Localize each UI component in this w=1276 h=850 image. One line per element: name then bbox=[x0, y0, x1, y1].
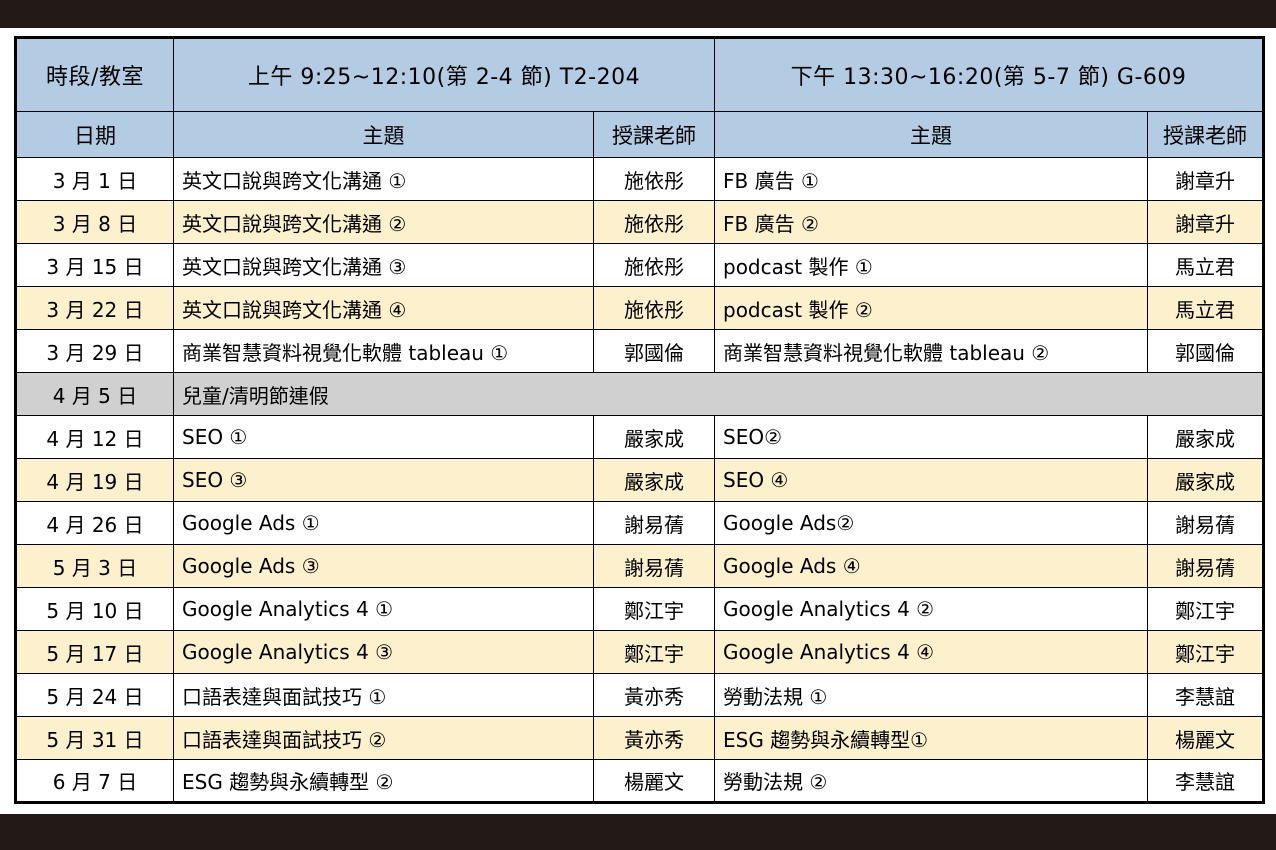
holiday-row: 4 月 5 日兒童/清明節連假 bbox=[16, 373, 1264, 416]
afternoon-subject-cell: Google Ads② bbox=[715, 502, 1148, 545]
column-header-afternoon-teacher: 授課老師 bbox=[1148, 112, 1264, 158]
header-afternoon-session: 下午 13:30~16:20(第 5-7 節) G-609 bbox=[715, 38, 1264, 112]
morning-subject-cell: 英文口說與跨文化溝通 ① bbox=[174, 158, 594, 201]
morning-subject-cell: SEO ③ bbox=[174, 459, 594, 502]
afternoon-subject-cell: SEO② bbox=[715, 416, 1148, 459]
table-row: 3 月 8 日英文口說與跨文化溝通 ②施依彤FB 廣告 ②謝章升 bbox=[16, 201, 1264, 244]
date-cell: 3 月 29 日 bbox=[16, 330, 174, 373]
column-header-morning-subject: 主題 bbox=[174, 112, 594, 158]
afternoon-subject-cell: 勞動法規 ② bbox=[715, 760, 1148, 803]
column-header-row: 日期 主題 授課老師 主題 授課老師 bbox=[16, 112, 1264, 158]
afternoon-teacher-cell: 李慧誼 bbox=[1148, 760, 1264, 803]
morning-teacher-cell: 施依彤 bbox=[594, 158, 715, 201]
afternoon-teacher-cell: 李慧誼 bbox=[1148, 674, 1264, 717]
table-row: 4 月 26 日Google Ads ①謝易蒨Google Ads②謝易蒨 bbox=[16, 502, 1264, 545]
table-row: 5 月 24 日口語表達與面試技巧 ①黃亦秀勞動法規 ①李慧誼 bbox=[16, 674, 1264, 717]
table-row: 5 月 31 日口語表達與面試技巧 ②黃亦秀ESG 趨勢與永續轉型①楊麗文 bbox=[16, 717, 1264, 760]
column-header-date: 日期 bbox=[16, 112, 174, 158]
table-row: 3 月 22 日英文口說與跨文化溝通 ④施依彤podcast 製作 ②馬立君 bbox=[16, 287, 1264, 330]
date-cell: 3 月 22 日 bbox=[16, 287, 174, 330]
holiday-date-cell: 4 月 5 日 bbox=[16, 373, 174, 416]
afternoon-subject-cell: podcast 製作 ② bbox=[715, 287, 1148, 330]
table-row: 5 月 10 日Google Analytics 4 ①鄭江宇Google An… bbox=[16, 588, 1264, 631]
afternoon-teacher-cell: 郭國倫 bbox=[1148, 330, 1264, 373]
morning-teacher-cell: 施依彤 bbox=[594, 287, 715, 330]
morning-teacher-cell: 嚴家成 bbox=[594, 416, 715, 459]
table-row: 6 月 7 日ESG 趨勢與永續轉型 ②楊麗文勞動法規 ②李慧誼 bbox=[16, 760, 1264, 803]
table-row: 3 月 1 日英文口說與跨文化溝通 ①施依彤FB 廣告 ①謝章升 bbox=[16, 158, 1264, 201]
date-cell: 5 月 24 日 bbox=[16, 674, 174, 717]
afternoon-teacher-cell: 謝章升 bbox=[1148, 158, 1264, 201]
afternoon-teacher-cell: 嚴家成 bbox=[1148, 459, 1264, 502]
morning-subject-cell: Google Ads ③ bbox=[174, 545, 594, 588]
morning-teacher-cell: 施依彤 bbox=[594, 201, 715, 244]
morning-teacher-cell: 鄭江宇 bbox=[594, 588, 715, 631]
table-row: 3 月 15 日英文口說與跨文化溝通 ③施依彤podcast 製作 ①馬立君 bbox=[16, 244, 1264, 287]
morning-subject-cell: Google Analytics 4 ① bbox=[174, 588, 594, 631]
afternoon-teacher-cell: 馬立君 bbox=[1148, 287, 1264, 330]
date-cell: 4 月 26 日 bbox=[16, 502, 174, 545]
date-cell: 6 月 7 日 bbox=[16, 760, 174, 803]
header-corner-label: 時段/教室 bbox=[16, 38, 174, 112]
column-header-afternoon-subject: 主題 bbox=[715, 112, 1148, 158]
date-cell: 4 月 12 日 bbox=[16, 416, 174, 459]
session-header-row: 時段/教室 上午 9:25~12:10(第 2-4 節) T2-204 下午 1… bbox=[16, 38, 1264, 112]
table-row: 3 月 29 日商業智慧資料視覺化軟體 tableau ①郭國倫商業智慧資料視覺… bbox=[16, 330, 1264, 373]
afternoon-subject-cell: 商業智慧資料視覺化軟體 tableau ② bbox=[715, 330, 1148, 373]
morning-teacher-cell: 鄭江宇 bbox=[594, 631, 715, 674]
column-header-morning-teacher: 授課老師 bbox=[594, 112, 715, 158]
morning-subject-cell: ESG 趨勢與永續轉型 ② bbox=[174, 760, 594, 803]
afternoon-subject-cell: ESG 趨勢與永續轉型① bbox=[715, 717, 1148, 760]
afternoon-subject-cell: FB 廣告 ① bbox=[715, 158, 1148, 201]
morning-teacher-cell: 謝易蒨 bbox=[594, 502, 715, 545]
afternoon-teacher-cell: 鄭江宇 bbox=[1148, 588, 1264, 631]
table-row: 5 月 3 日Google Ads ③謝易蒨Google Ads ④謝易蒨 bbox=[16, 545, 1264, 588]
date-cell: 4 月 19 日 bbox=[16, 459, 174, 502]
afternoon-teacher-cell: 謝易蒨 bbox=[1148, 545, 1264, 588]
morning-subject-cell: 英文口說與跨文化溝通 ④ bbox=[174, 287, 594, 330]
afternoon-subject-cell: 勞動法規 ① bbox=[715, 674, 1148, 717]
afternoon-teacher-cell: 謝章升 bbox=[1148, 201, 1264, 244]
morning-subject-cell: Google Analytics 4 ③ bbox=[174, 631, 594, 674]
table-row: 4 月 12 日SEO ①嚴家成SEO②嚴家成 bbox=[16, 416, 1264, 459]
page-sheet: 時段/教室 上午 9:25~12:10(第 2-4 節) T2-204 下午 1… bbox=[0, 28, 1276, 814]
morning-subject-cell: SEO ① bbox=[174, 416, 594, 459]
morning-teacher-cell: 郭國倫 bbox=[594, 330, 715, 373]
afternoon-subject-cell: SEO ④ bbox=[715, 459, 1148, 502]
afternoon-teacher-cell: 鄭江宇 bbox=[1148, 631, 1264, 674]
morning-teacher-cell: 黃亦秀 bbox=[594, 717, 715, 760]
morning-subject-cell: 英文口說與跨文化溝通 ② bbox=[174, 201, 594, 244]
date-cell: 3 月 8 日 bbox=[16, 201, 174, 244]
afternoon-subject-cell: Google Analytics 4 ④ bbox=[715, 631, 1148, 674]
date-cell: 3 月 1 日 bbox=[16, 158, 174, 201]
table-row: 4 月 19 日SEO ③嚴家成SEO ④嚴家成 bbox=[16, 459, 1264, 502]
date-cell: 5 月 17 日 bbox=[16, 631, 174, 674]
afternoon-teacher-cell: 馬立君 bbox=[1148, 244, 1264, 287]
afternoon-teacher-cell: 嚴家成 bbox=[1148, 416, 1264, 459]
course-schedule-table: 時段/教室 上午 9:25~12:10(第 2-4 節) T2-204 下午 1… bbox=[14, 36, 1265, 804]
morning-subject-cell: Google Ads ① bbox=[174, 502, 594, 545]
morning-teacher-cell: 黃亦秀 bbox=[594, 674, 715, 717]
date-cell: 3 月 15 日 bbox=[16, 244, 174, 287]
afternoon-subject-cell: podcast 製作 ① bbox=[715, 244, 1148, 287]
morning-subject-cell: 口語表達與面試技巧 ② bbox=[174, 717, 594, 760]
table-row: 5 月 17 日Google Analytics 4 ③鄭江宇Google An… bbox=[16, 631, 1264, 674]
afternoon-subject-cell: FB 廣告 ② bbox=[715, 201, 1148, 244]
afternoon-subject-cell: Google Ads ④ bbox=[715, 545, 1148, 588]
date-cell: 5 月 3 日 bbox=[16, 545, 174, 588]
header-morning-session: 上午 9:25~12:10(第 2-4 節) T2-204 bbox=[174, 38, 715, 112]
morning-teacher-cell: 嚴家成 bbox=[594, 459, 715, 502]
date-cell: 5 月 31 日 bbox=[16, 717, 174, 760]
afternoon-teacher-cell: 謝易蒨 bbox=[1148, 502, 1264, 545]
morning-teacher-cell: 楊麗文 bbox=[594, 760, 715, 803]
morning-subject-cell: 口語表達與面試技巧 ① bbox=[174, 674, 594, 717]
afternoon-subject-cell: Google Analytics 4 ② bbox=[715, 588, 1148, 631]
morning-subject-cell: 商業智慧資料視覺化軟體 tableau ① bbox=[174, 330, 594, 373]
morning-subject-cell: 英文口說與跨文化溝通 ③ bbox=[174, 244, 594, 287]
date-cell: 5 月 10 日 bbox=[16, 588, 174, 631]
morning-teacher-cell: 施依彤 bbox=[594, 244, 715, 287]
holiday-label-cell: 兒童/清明節連假 bbox=[174, 373, 1264, 416]
morning-teacher-cell: 謝易蒨 bbox=[594, 545, 715, 588]
afternoon-teacher-cell: 楊麗文 bbox=[1148, 717, 1264, 760]
